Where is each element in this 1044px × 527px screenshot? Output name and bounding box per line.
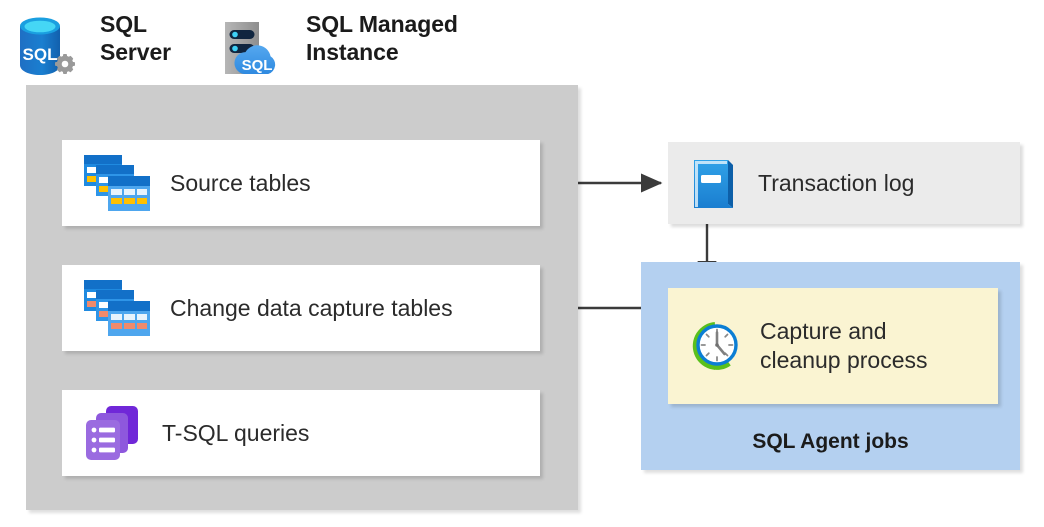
- card-label-capture-cleanup-process: Capture and cleanup process: [760, 317, 928, 375]
- card-tsql-queries[interactable]: T-SQL queries: [62, 390, 540, 476]
- sql-server-icon: SQL: [14, 8, 76, 80]
- transaction-log-icon: [690, 156, 738, 210]
- product-sql-managed-instance: SQL SQL Managed Instance: [218, 8, 458, 80]
- card-label-tsql-queries: T-SQL queries: [162, 419, 309, 448]
- card-label-cdc-tables: Change data capture tables: [170, 294, 453, 323]
- card-label-transaction-log: Transaction log: [758, 169, 914, 198]
- card-label-source-tables: Source tables: [170, 169, 311, 198]
- product-label-sql-managed-instance: SQL Managed Instance: [306, 10, 458, 66]
- sql-agent-jobs-label: SQL Agent jobs: [641, 430, 1020, 454]
- svg-text:SQL: SQL: [242, 57, 273, 74]
- product-sql-server: SQL SQL Server: [14, 8, 171, 80]
- card-capture-cleanup-process[interactable]: Capture and cleanup process: [668, 288, 998, 404]
- svg-text:SQL: SQL: [23, 45, 58, 64]
- product-label-sql-server: SQL Server: [100, 10, 171, 66]
- tsql-queries-icon: [84, 404, 142, 462]
- cdc-tables-icon: [84, 280, 150, 336]
- clock-icon: [690, 321, 740, 371]
- card-transaction-log[interactable]: Transaction log: [668, 142, 1020, 224]
- card-cdc-tables[interactable]: Change data capture tables: [62, 265, 540, 351]
- source-tables-icon: [84, 155, 150, 211]
- card-source-tables[interactable]: Source tables: [62, 140, 540, 226]
- diagram-canvas: SQL SQL Server: [0, 0, 1044, 527]
- sql-managed-instance-icon: SQL: [218, 8, 284, 80]
